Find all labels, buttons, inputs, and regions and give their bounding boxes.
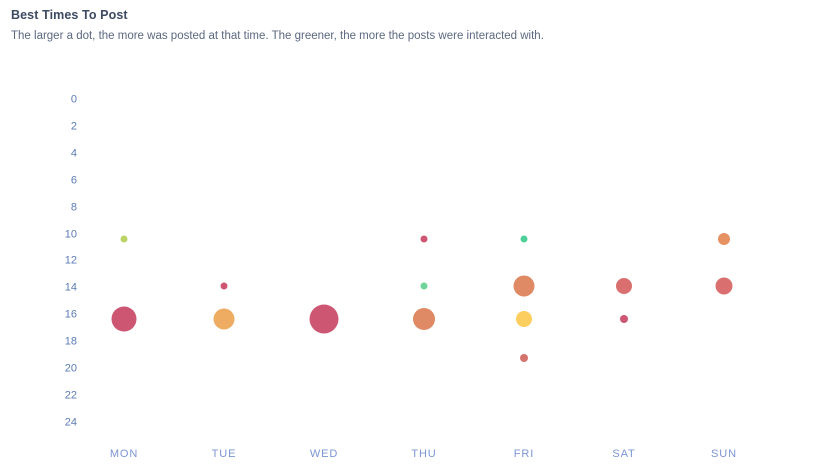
data-point[interactable] xyxy=(421,235,428,242)
y-axis-tick-label: 22 xyxy=(37,390,77,401)
x-axis-tick-label-fri: FRI xyxy=(474,449,574,460)
data-point[interactable] xyxy=(221,282,228,289)
scatter-plot-area: 024681012141618202224 MONTUEWEDTHUFRISAT… xyxy=(0,0,828,465)
y-axis-tick-label: 6 xyxy=(37,175,77,186)
y-axis-tick-label: 2 xyxy=(37,121,77,132)
y-axis-tick-label: 18 xyxy=(37,337,77,348)
data-point[interactable] xyxy=(616,278,632,294)
data-point[interactable] xyxy=(112,307,137,332)
y-axis-tick-label: 8 xyxy=(37,202,77,213)
y-axis-tick-label: 14 xyxy=(37,283,77,294)
data-point[interactable] xyxy=(520,354,528,362)
data-point[interactable] xyxy=(421,282,428,289)
best-times-to-post-card: Best Times To Post The larger a dot, the… xyxy=(0,0,828,465)
data-point[interactable] xyxy=(521,235,528,242)
x-axis-tick-label-wed: WED xyxy=(274,449,374,460)
x-axis-tick-label-sat: SAT xyxy=(574,449,674,460)
x-axis-tick-label-thu: THU xyxy=(374,449,474,460)
y-axis-tick-label: 10 xyxy=(37,229,77,240)
data-point[interactable] xyxy=(718,233,730,245)
data-point[interactable] xyxy=(310,305,339,334)
y-axis-tick-label: 16 xyxy=(37,310,77,321)
data-point[interactable] xyxy=(716,277,733,294)
data-point[interactable] xyxy=(413,308,435,330)
y-axis-tick-label: 4 xyxy=(37,148,77,159)
y-axis-tick-label: 12 xyxy=(37,256,77,267)
y-axis-tick-label: 0 xyxy=(37,95,77,106)
data-point[interactable] xyxy=(121,235,128,242)
data-point[interactable] xyxy=(516,311,532,327)
x-axis-tick-label-sun: SUN xyxy=(674,449,774,460)
data-point[interactable] xyxy=(514,275,535,296)
x-axis-tick-label-mon: MON xyxy=(74,449,174,460)
data-point[interactable] xyxy=(214,309,235,330)
y-axis-tick-label: 24 xyxy=(37,417,77,428)
data-point[interactable] xyxy=(620,315,628,323)
x-axis-tick-label-tue: TUE xyxy=(174,449,274,460)
y-axis-tick-label: 20 xyxy=(37,364,77,375)
